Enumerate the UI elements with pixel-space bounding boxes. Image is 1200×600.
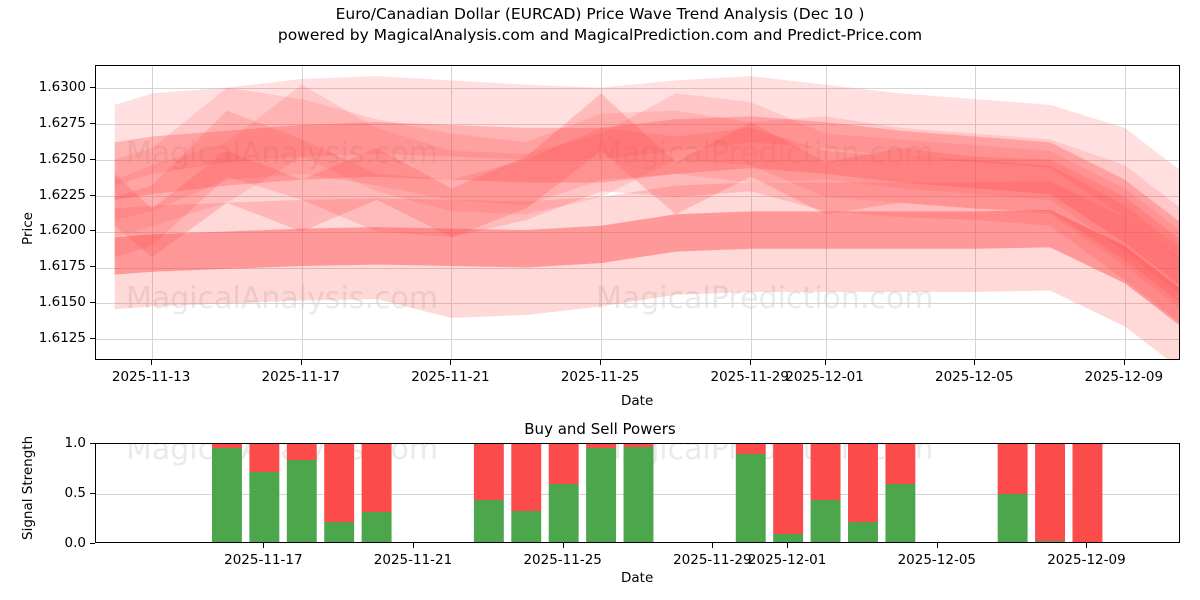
price-x-tick-mark-2: [450, 360, 451, 365]
buy-power-bar: [511, 511, 541, 543]
buy-power-bar: [212, 448, 242, 543]
signal-x-tick-label-6: 2025-12-09: [1047, 552, 1125, 568]
price-wave-bands: [96, 66, 1180, 360]
signal-x-tick-mark-5: [937, 543, 938, 548]
sell-power-bar: [511, 444, 541, 511]
sell-power-bar: [885, 444, 915, 484]
signal-x-tick-label-5: 2025-12-05: [898, 552, 976, 568]
signal-chart-plot-area: MagicalAnalysis.com MagicalPrediction.co…: [95, 443, 1180, 543]
price-x-tick-mark-5: [825, 360, 826, 365]
sell-power-bar: [549, 444, 579, 484]
price-y-tick-label-7: 1.6300: [39, 79, 86, 95]
buy-power-bar: [885, 484, 915, 543]
price-y-tick-label-6: 1.6275: [39, 115, 86, 131]
sell-power-bar: [362, 444, 392, 512]
price-x-axis-label: Date: [621, 393, 653, 409]
sell-power-bar: [1035, 444, 1065, 541]
price-y-tick-label-0: 1.6125: [39, 330, 86, 346]
signal-x-tick-label-4: 2025-12-01: [748, 552, 826, 568]
price-y-tick-label-3: 1.6200: [39, 222, 86, 238]
signal-x-tick-mark-2: [563, 543, 564, 548]
price-x-tick-label-4: 2025-11-29: [711, 369, 789, 385]
sell-power-bar: [474, 444, 504, 500]
signal-y-tick-mark-1: [90, 493, 95, 494]
signal-x-tick-mark-3: [712, 543, 713, 548]
chart-page: Euro/Canadian Dollar (EURCAD) Price Wave…: [0, 0, 1200, 600]
price-y-tick-label-2: 1.6175: [39, 258, 86, 274]
buy-power-bar: [736, 454, 766, 543]
signal-x-tick-label-1: 2025-11-21: [374, 552, 452, 568]
buy-power-bar: [586, 448, 616, 543]
price-y-tick-mark-6: [90, 123, 95, 124]
signal-y-tick-mark-2: [90, 443, 95, 444]
price-y-tick-mark-4: [90, 195, 95, 196]
buy-power-bar: [324, 522, 354, 543]
price-y-axis-label: Price: [20, 212, 36, 245]
signal-x-tick-label-3: 2025-11-29: [673, 552, 751, 568]
price-y-tick-mark-5: [90, 159, 95, 160]
page-subtitle: powered by MagicalAnalysis.com and Magic…: [0, 25, 1200, 46]
price-y-tick-mark-0: [90, 338, 95, 339]
chart-title-block: Euro/Canadian Dollar (EURCAD) Price Wave…: [0, 4, 1200, 46]
signal-x-tick-label-0: 2025-11-17: [224, 552, 302, 568]
signal-x-tick-mark-1: [413, 543, 414, 548]
sell-power-bar: [848, 444, 878, 522]
sell-power-bar: [249, 444, 279, 472]
signal-y-tick-mark-0: [90, 543, 95, 544]
price-x-tick-label-3: 2025-11-25: [561, 369, 639, 385]
price-y-tick-mark-1: [90, 302, 95, 303]
signal-y-tick-label-1: 0.5: [65, 485, 86, 501]
signal-x-tick-mark-4: [787, 543, 788, 548]
buy-power-bar: [848, 522, 878, 543]
page-title: Euro/Canadian Dollar (EURCAD) Price Wave…: [0, 4, 1200, 25]
price-y-tick-label-4: 1.6225: [39, 187, 86, 203]
price-x-tick-mark-7: [1124, 360, 1125, 365]
buy-power-bar: [624, 447, 654, 543]
signal-x-tick-mark-0: [263, 543, 264, 548]
sell-power-bar: [624, 444, 654, 447]
price-x-tick-mark-4: [750, 360, 751, 365]
price-x-tick-label-2: 2025-11-21: [411, 369, 489, 385]
buy-power-bar: [362, 512, 392, 543]
buy-power-bar: [474, 500, 504, 543]
signal-x-axis-label: Date: [621, 570, 653, 586]
price-y-tick-mark-7: [90, 87, 95, 88]
signal-x-tick-mark-6: [1086, 543, 1087, 548]
sell-power-bar: [287, 444, 317, 460]
buy-power-bar: [249, 472, 279, 543]
price-y-tick-label-5: 1.6250: [39, 151, 86, 167]
price-x-tick-label-5: 2025-12-01: [785, 369, 863, 385]
signal-y-tick-label-2: 1.0: [65, 435, 86, 451]
buy-power-bar: [773, 534, 803, 543]
buy-power-bar: [1035, 541, 1065, 543]
sell-power-bar: [586, 444, 616, 448]
signal-y-axis-label: Signal Strength: [20, 436, 36, 540]
price-x-tick-label-1: 2025-11-17: [262, 369, 340, 385]
price-x-tick-label-0: 2025-11-13: [112, 369, 190, 385]
price-y-tick-mark-2: [90, 266, 95, 267]
price-y-tick-label-1: 1.6150: [39, 294, 86, 310]
buy-power-bar: [549, 484, 579, 543]
price-chart-plot-area: MagicalAnalysis.com MagicalPrediction.co…: [95, 65, 1180, 360]
price-x-tick-mark-0: [151, 360, 152, 365]
sell-power-bar: [736, 444, 766, 454]
price-y-tick-mark-3: [90, 230, 95, 231]
sell-power-bar: [773, 444, 803, 534]
price-x-tick-mark-6: [974, 360, 975, 365]
buy-power-bar: [998, 494, 1028, 543]
price-x-tick-label-6: 2025-12-05: [935, 369, 1013, 385]
price-x-tick-mark-1: [301, 360, 302, 365]
price-x-tick-label-7: 2025-12-09: [1085, 369, 1163, 385]
sell-power-bar: [811, 444, 841, 500]
sell-power-bar: [998, 444, 1028, 494]
signal-chart-title: Buy and Sell Powers: [0, 420, 1200, 438]
sell-power-bar: [212, 444, 242, 448]
price-x-tick-mark-3: [600, 360, 601, 365]
buy-power-bar: [287, 460, 317, 543]
signal-x-tick-label-2: 2025-11-25: [523, 552, 601, 568]
sell-power-bar: [1073, 444, 1103, 543]
sell-power-bar: [324, 444, 354, 522]
buy-power-bar: [811, 500, 841, 543]
signal-bars: [96, 444, 1180, 543]
signal-y-tick-label-0: 0.0: [65, 535, 86, 551]
